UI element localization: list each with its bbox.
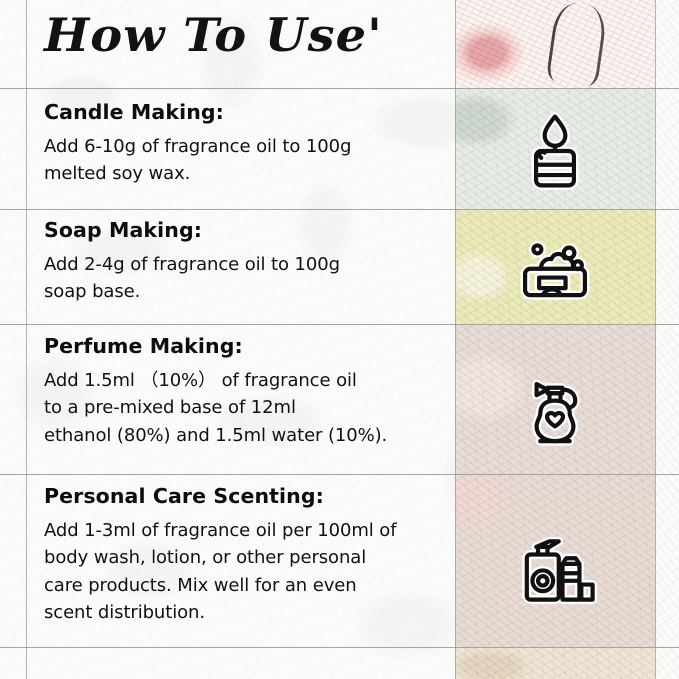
section-candle-making: Candle Making: Add 6-10g of fragrance oi… bbox=[44, 100, 444, 188]
section-heading: Candle Making: bbox=[44, 100, 444, 124]
body-line: soap base. bbox=[44, 278, 444, 305]
section-personal-care-scenting: Personal Care Scenting: Add 1-3ml of fra… bbox=[44, 484, 456, 626]
soap-bar-icon bbox=[455, 222, 655, 312]
candle-icon bbox=[455, 105, 655, 197]
section-body: Add 1.5ml （10%） of fragrance oil to a pr… bbox=[44, 367, 444, 449]
body-line: melted soy wax. bbox=[44, 160, 444, 187]
right-margin-strip bbox=[656, 0, 679, 679]
section-perfume-making: Perfume Making: Add 1.5ml （10%） of fragr… bbox=[44, 334, 444, 449]
body-line: to a pre-mixed base of 12ml bbox=[44, 394, 444, 421]
page-title: How To Use' bbox=[44, 8, 383, 62]
left-vertical-rule bbox=[26, 0, 27, 679]
body-line: care products. Mix well for an even bbox=[44, 572, 456, 599]
section-body: Add 2-4g of fragrance oil to 100g soap b… bbox=[44, 251, 444, 306]
body-line: Add 1-3ml of fragrance oil per 100ml of bbox=[44, 517, 456, 544]
section-heading: Perfume Making: bbox=[44, 334, 444, 358]
floral-rose-letter-photo bbox=[455, 0, 655, 88]
how-to-use-infographic: How To Use' Candle Making: Add 6-10g of … bbox=[0, 0, 679, 679]
body-line: body wash, lotion, or other personal bbox=[44, 544, 456, 571]
personal-care-products-icon bbox=[455, 512, 655, 612]
body-line: Add 6-10g of fragrance oil to 100g bbox=[44, 133, 444, 160]
divider-rule-2 bbox=[0, 209, 679, 210]
divider-rule-4 bbox=[0, 474, 679, 475]
divider-rule-1 bbox=[0, 88, 679, 89]
section-body: Add 6-10g of fragrance oil to 100g melte… bbox=[44, 133, 444, 188]
ribbon-decoration bbox=[546, 1, 609, 87]
floral-photo-strip bbox=[455, 648, 655, 679]
body-line: scent distribution. bbox=[44, 599, 456, 626]
body-line: Add 1.5ml （10%） of fragrance oil bbox=[44, 367, 444, 394]
section-heading: Soap Making: bbox=[44, 218, 444, 242]
divider-rule-5 bbox=[0, 647, 679, 648]
section-body: Add 1-3ml of fragrance oil per 100ml of … bbox=[44, 517, 456, 626]
section-soap-making: Soap Making: Add 2-4g of fragrance oil t… bbox=[44, 218, 444, 306]
divider-rule-3 bbox=[0, 324, 679, 325]
section-heading: Personal Care Scenting: bbox=[44, 484, 456, 508]
perfume-bottle-icon bbox=[455, 360, 655, 456]
body-line: ethanol (80%) and 1.5ml water (10%). bbox=[44, 422, 444, 449]
right-vertical-rule bbox=[655, 0, 656, 679]
body-line: Add 2-4g of fragrance oil to 100g bbox=[44, 251, 444, 278]
